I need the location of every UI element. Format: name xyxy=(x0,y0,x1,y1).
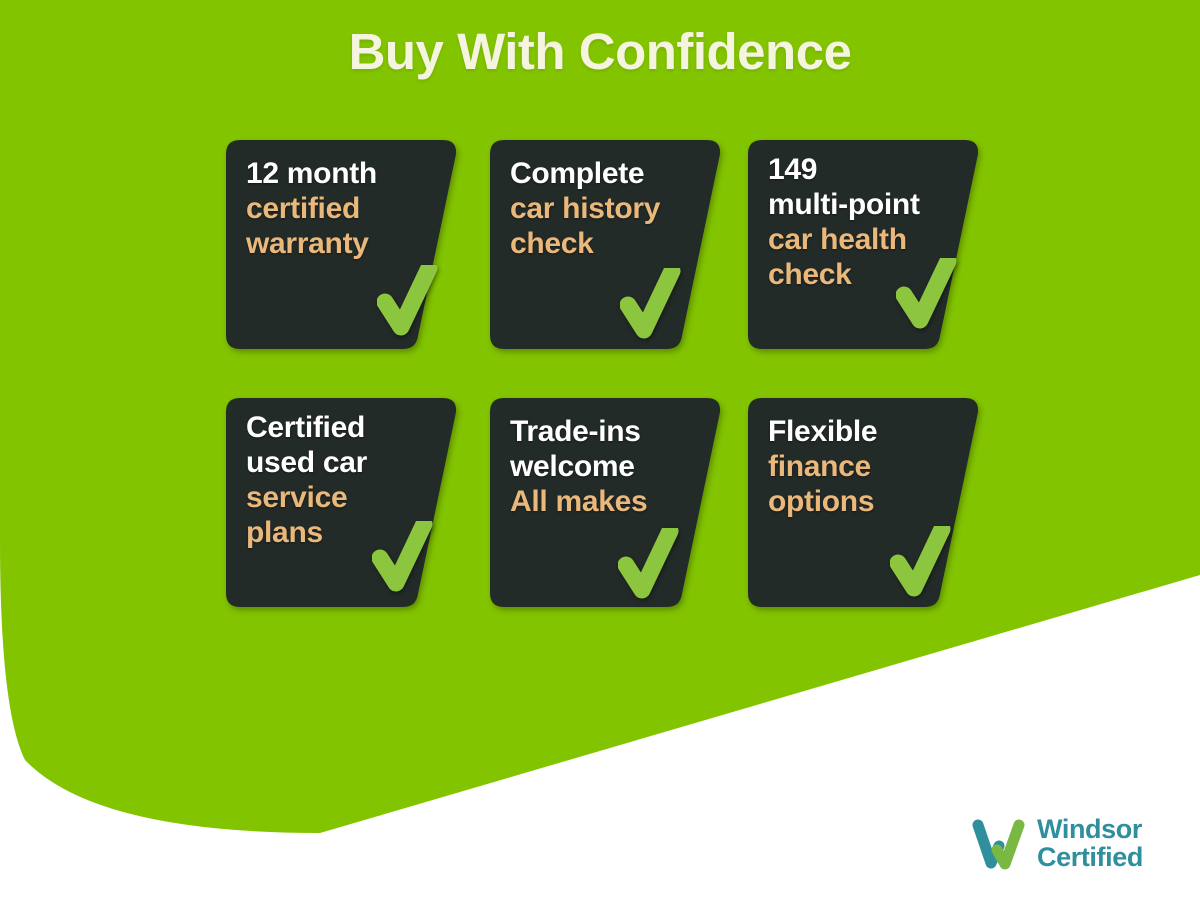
card-line: car health xyxy=(768,222,956,257)
card-line: service xyxy=(246,480,434,515)
feature-card-complete-car-history-check[interactable]: Complete car history check xyxy=(490,140,722,349)
card-text-block: Complete car history check xyxy=(510,156,698,261)
card-line: used car xyxy=(246,445,434,480)
check-mark-icon xyxy=(890,526,952,598)
check-mark-icon xyxy=(618,528,680,600)
card-line: Flexible xyxy=(768,414,956,449)
card-line: Trade-ins xyxy=(510,414,698,449)
card-line: multi-point xyxy=(768,187,956,222)
card-line: welcome xyxy=(510,449,698,484)
windsor-certified-logo[interactable]: Windsor Certified xyxy=(972,808,1162,880)
feature-card-trade-ins-welcome-all-makes[interactable]: Trade-ins welcome All makes xyxy=(490,398,722,607)
page-title: Buy With Confidence xyxy=(0,24,1200,80)
check-mark-icon xyxy=(372,521,434,593)
card-line: finance xyxy=(768,449,956,484)
brand-wordmark: Windsor Certified xyxy=(1037,816,1143,872)
windsor-w-icon xyxy=(972,816,1028,872)
feature-card-149-multi-point-car-health-check[interactable]: 149 multi-point car health check xyxy=(748,140,980,349)
check-mark-icon xyxy=(377,265,439,337)
check-mark-icon xyxy=(620,268,682,340)
feature-card-12-month-certified-warranty[interactable]: 12 month certified warranty xyxy=(226,140,458,349)
card-line: 12 month xyxy=(246,156,434,191)
card-line: Complete xyxy=(510,156,698,191)
card-line: car history xyxy=(510,191,698,226)
card-text-block: Trade-ins welcome All makes xyxy=(510,414,698,519)
card-text-block: 12 month certified warranty xyxy=(246,156,434,261)
card-line: warranty xyxy=(246,226,434,261)
brand-line-2: Certified xyxy=(1037,844,1143,872)
feature-card-certified-used-car-service-plans[interactable]: Certified used car service plans xyxy=(226,398,458,607)
card-line: Certified xyxy=(246,410,434,445)
brand-line-1: Windsor xyxy=(1037,816,1143,844)
feature-card-flexible-finance-options[interactable]: Flexible finance options xyxy=(748,398,980,607)
card-line: options xyxy=(768,484,956,519)
card-text-block: Flexible finance options xyxy=(768,414,956,519)
card-line: check xyxy=(510,226,698,261)
card-line: All makes xyxy=(510,484,698,519)
check-mark-icon xyxy=(896,258,958,330)
card-line: 149 xyxy=(768,152,956,187)
card-line: certified xyxy=(246,191,434,226)
promo-banner: Buy With Confidence 12 month certified w… xyxy=(0,0,1200,900)
